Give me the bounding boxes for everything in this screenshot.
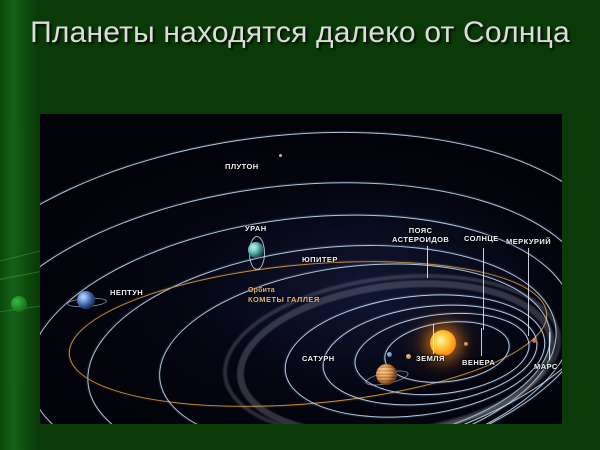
decorative-left-band xyxy=(0,0,38,450)
planet-earth xyxy=(387,352,392,357)
planet-venus xyxy=(406,354,411,359)
slide: Планеты находятся далеко от Солнца xyxy=(0,0,600,450)
planet-mercury xyxy=(464,342,468,346)
planet-pluto xyxy=(279,154,282,157)
label-pluto: ПЛУТОН xyxy=(225,162,259,171)
label-sun: СОЛНЦЕ xyxy=(464,234,499,243)
label-mercury: МЕРКУРИЙ xyxy=(506,237,551,246)
solar-system-figure: ПЛУТОН УРАН ЮПИТЕР НЕПТУН САТУРН ЗЕМЛЯ В… xyxy=(40,114,562,424)
label-uranus: УРАН xyxy=(245,224,267,233)
label-saturn: САТУРН xyxy=(302,354,335,363)
label-halley-comet-orbit: Орбита КОМЕТЫ ГАЛЛЕЯ xyxy=(248,286,320,304)
label-asteroid-belt-line1: ПОЯС xyxy=(392,226,449,235)
planet-mars xyxy=(532,338,537,343)
page-title: Планеты находятся далеко от Солнца xyxy=(20,14,580,52)
leader-line-mars xyxy=(549,332,550,360)
label-venus: ВЕНЕРА xyxy=(462,358,495,367)
label-asteroid-belt-line2: АСТЕРОИДОВ xyxy=(392,235,449,244)
label-earth: ЗЕМЛЯ xyxy=(416,354,445,363)
label-asteroid-belt: ПОЯС АСТЕРОИДОВ xyxy=(392,226,449,244)
planet-neptune xyxy=(77,291,95,309)
leader-line-venus xyxy=(481,328,482,356)
label-mars: МАРС xyxy=(534,362,558,371)
planet-jupiter xyxy=(376,364,397,385)
leader-line-asteroid-belt xyxy=(427,246,428,278)
leader-line-sun xyxy=(483,248,484,330)
leader-line-mercury xyxy=(528,248,529,336)
label-neptune: НЕПТУН xyxy=(110,288,143,297)
label-jupiter: ЮПИТЕР xyxy=(302,255,338,264)
leader-line-earth xyxy=(433,324,434,354)
label-halley-line1: Орбита xyxy=(248,286,320,295)
planet-uranus xyxy=(248,242,264,258)
label-halley-line2: КОМЕТЫ ГАЛЛЕЯ xyxy=(248,295,320,304)
